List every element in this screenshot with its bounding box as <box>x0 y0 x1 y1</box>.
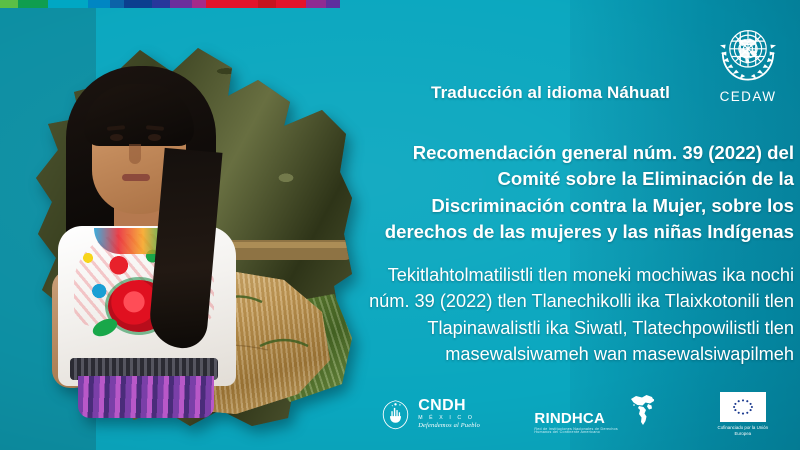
stripe-segment <box>192 0 206 8</box>
content-column: CEDAW Traducción al idioma Náhuatl Recom… <box>352 0 800 450</box>
eye <box>110 134 123 141</box>
stripe-segment <box>110 0 124 8</box>
stripe-segment <box>276 0 306 8</box>
woman-figure <box>52 58 240 388</box>
stripe-segment <box>326 0 340 8</box>
eu-caption: Cofinanciado por la Unión Europea <box>713 425 773 436</box>
stripe-segment <box>0 0 18 8</box>
eu-funding-logo: Cofinanciado por la Unión Europea <box>713 392 773 436</box>
cndh-logo: CNDH M É X I C O Defendemos al Pueblo <box>379 398 480 431</box>
cndh-country: M É X I C O <box>418 416 480 421</box>
nose <box>129 144 141 164</box>
kicker-text: Traducción al idioma Náhuatl <box>431 83 670 103</box>
un-cedaw-logo: CEDAW <box>708 18 788 106</box>
stripe-segment <box>88 0 110 8</box>
stripe-segment <box>306 0 326 8</box>
eye <box>148 134 161 141</box>
cndh-hand-icon <box>379 398 412 431</box>
top-color-stripe <box>0 0 340 8</box>
eu-stars-icon <box>720 392 766 422</box>
stripe-segment <box>18 0 48 8</box>
cndh-name: CNDH <box>418 398 480 414</box>
rindhca-subtitle: Red de Instituciones Nacionales de Derec… <box>534 428 626 435</box>
stripe-segment <box>152 0 170 8</box>
americas-map-icon <box>628 393 658 427</box>
stripe-segment <box>258 0 276 8</box>
title-nahuatl: Tekitlahtolmatilistli tlen moneki mochiw… <box>364 262 794 368</box>
un-emblem-icon <box>713 18 783 88</box>
photo-collage <box>22 22 352 432</box>
stripe-segment <box>124 0 152 8</box>
stripe-segment <box>170 0 192 8</box>
partner-logo-bar: CNDH M É X I C O Defendemos al Pueblo RI… <box>352 386 800 442</box>
poster-canvas: CEDAW Traducción al idioma Náhuatl Recom… <box>0 0 800 450</box>
stripe-segment <box>206 0 258 8</box>
cndh-tagline: Defendemos al Pueblo <box>418 423 480 429</box>
stripe-segment <box>48 0 88 8</box>
rindhca-name: RINDHCA <box>534 411 626 426</box>
skirt <box>78 376 214 418</box>
cedaw-label: CEDAW <box>708 89 788 104</box>
mouth <box>122 174 150 181</box>
title-spanish: Recomendación general núm. 39 (2022) del… <box>364 140 794 246</box>
rindhca-logo: RINDHCA Red de Instituciones Nacionales … <box>534 393 658 435</box>
